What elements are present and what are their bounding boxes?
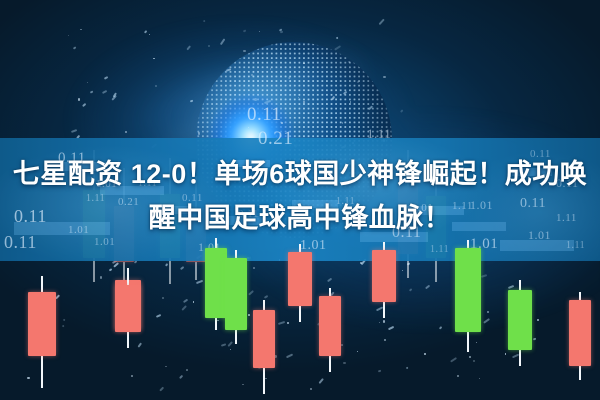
candlestick [319,288,341,372]
candlestick [28,276,56,388]
candlestick-body [205,248,227,318]
candlestick [225,250,247,344]
candlestick [115,270,141,348]
candlestick [508,280,532,366]
headline-text: 七星配资 12-0！单场6球国少神锋崛起！成功唤 醒中国足球高中锋血脉！ [0,152,600,240]
candlestick [569,292,591,380]
candlestick [455,240,481,352]
banner-image: 0.110.211.110.111.011.110.210.111.011.01… [0,0,600,400]
candlestick-body [508,290,532,350]
candlestick [253,300,275,394]
candlestick-body [372,250,396,302]
candlestick-body [569,300,591,366]
candlestick-body [28,292,56,356]
candlestick [372,242,396,318]
candlestick-body [288,252,312,306]
candlestick-body [115,285,141,332]
candlestick-body [253,310,275,368]
candlestick [288,244,312,322]
candlestick-body [225,258,247,330]
candlestick-body [319,296,341,356]
candlestick-body [455,248,481,332]
candlestick [205,238,227,330]
headline-line-1: 七星配资 12-0！单场6球国少神锋崛起！成功唤 [0,152,600,196]
headline-line-2: 醒中国足球高中锋血脉！ [0,196,600,240]
